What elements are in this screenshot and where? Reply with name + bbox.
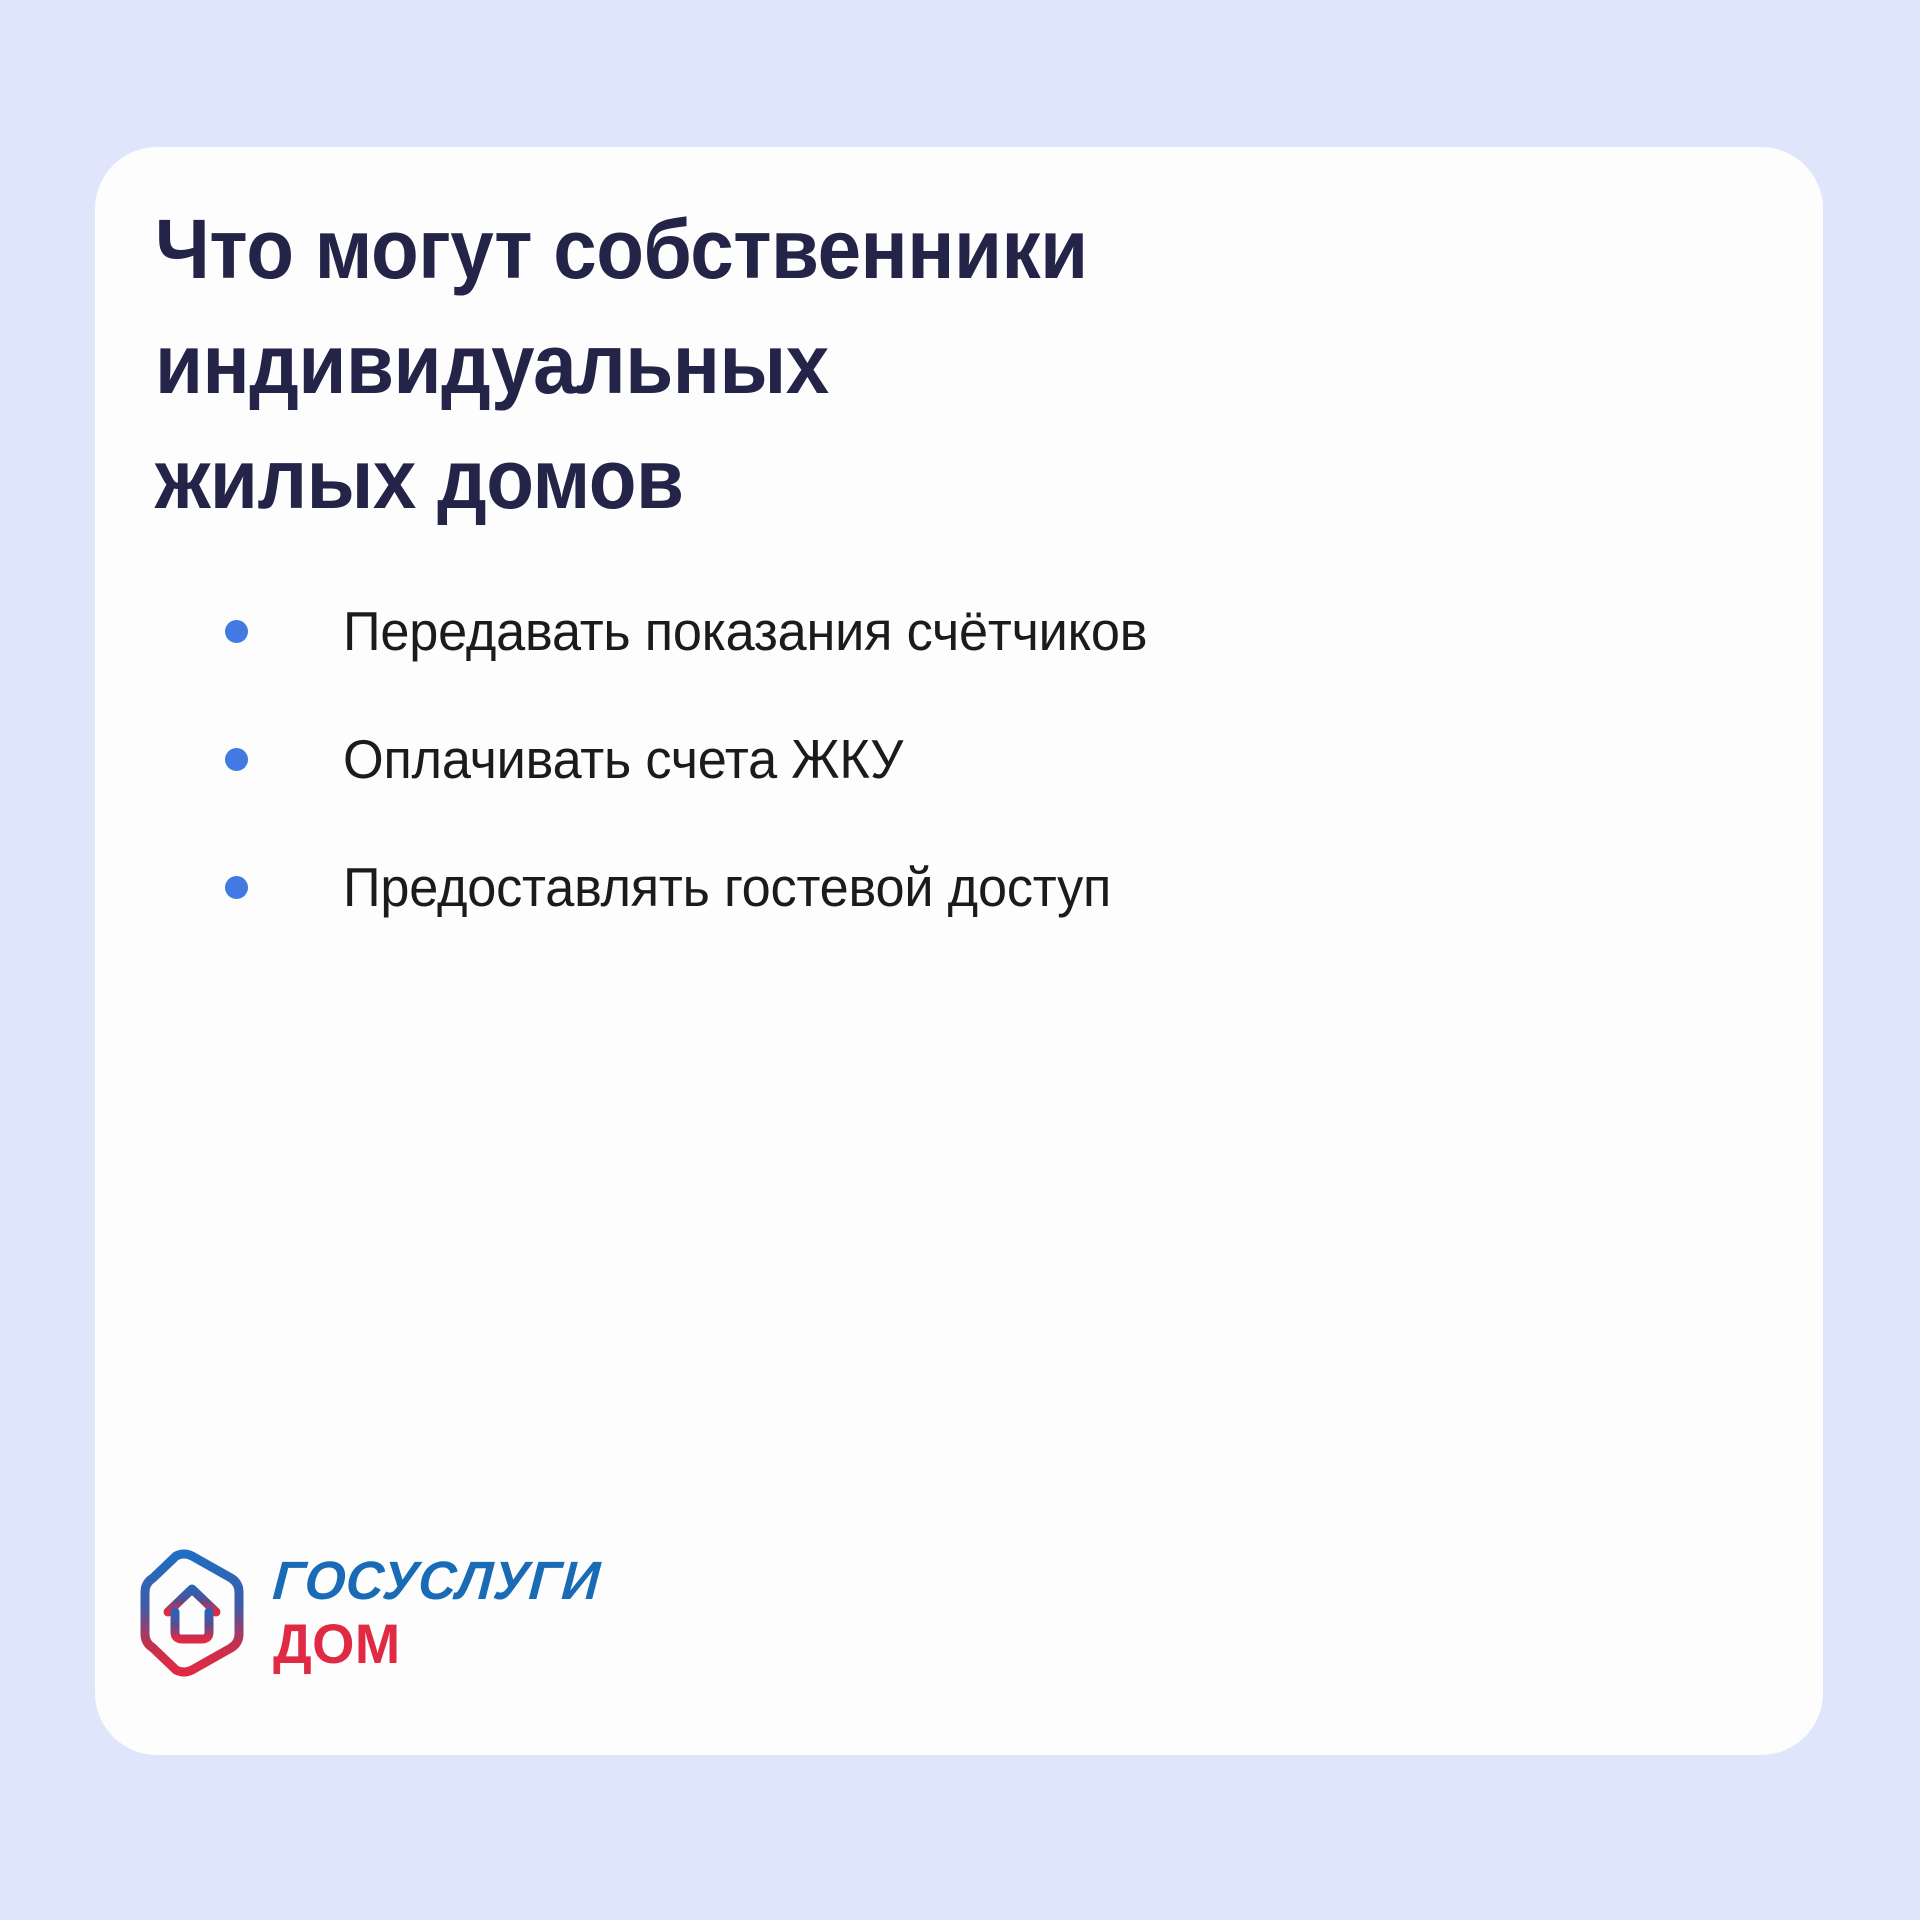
bullet-dot-icon	[225, 748, 248, 771]
logo-word-dom: ДОМ	[273, 1616, 600, 1672]
list-item-label: Передавать показания счётчиков	[343, 601, 1147, 662]
list-item: Предоставлять гостевой доступ	[133, 823, 1633, 951]
page-canvas: Что могут собственники индивидуальных жи…	[0, 0, 1920, 1920]
list-item: Оплачивать счета ЖКУ	[133, 695, 1633, 823]
info-card: Что могут собственники индивидуальных жи…	[95, 147, 1823, 1755]
list-item: Передавать показания счётчиков	[133, 567, 1633, 695]
bullet-dot-icon	[225, 620, 248, 643]
capabilities-list: Передавать показания счётчиков Оплачиват…	[133, 567, 1633, 951]
list-item-label: Оплачивать счета ЖКУ	[343, 729, 903, 790]
house-in-hexagon-icon	[133, 1549, 251, 1677]
logo-wordmark: ГОСУСЛУГИ ДОМ	[273, 1554, 610, 1672]
list-item-label: Предоставлять гостевой доступ	[343, 857, 1111, 918]
bullet-dot-icon	[225, 876, 248, 899]
brand-logo: ГОСУСЛУГИ ДОМ	[133, 1549, 610, 1677]
logo-word-gosuslugi: ГОСУСЛУГИ	[271, 1554, 602, 1608]
page-title: Что могут собственники индивидуальных жи…	[155, 192, 1550, 537]
